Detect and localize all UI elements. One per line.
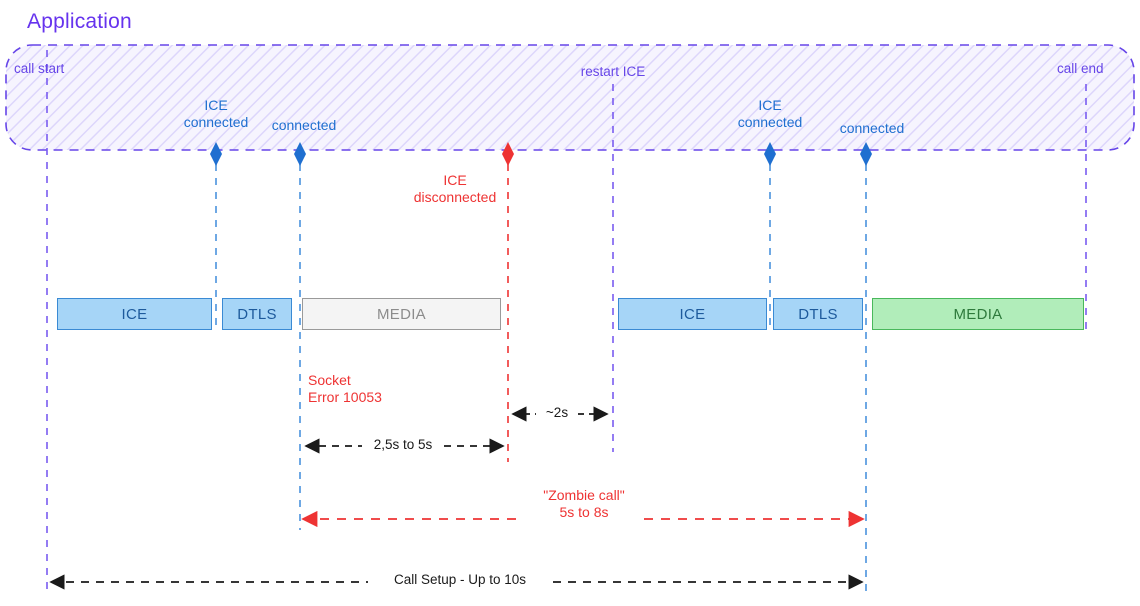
- phase-ice-1[interactable]: ICE: [57, 298, 212, 330]
- label-connected-1: connected: [272, 117, 337, 134]
- annotation-call-setup: Call Setup - Up to 10s: [394, 572, 526, 588]
- label-ice-connected-2-line1: ICE: [738, 97, 803, 114]
- annotation-zombie-call: "Zombie call" 5s to 8s: [543, 487, 625, 520]
- annotation-socket-error-line2: Error 10053: [308, 389, 382, 406]
- label-ice-disconnected-line2: disconnected: [414, 189, 497, 206]
- label-call-end: call end: [1057, 61, 1104, 77]
- annotation-span-2s: ~2s: [546, 405, 568, 421]
- annotation-zombie-title: "Zombie call": [543, 487, 625, 504]
- label-ice-connected-2: ICE connected: [738, 97, 803, 130]
- annotation-socket-error-line1: Socket: [308, 372, 382, 389]
- annotation-zombie-range: 5s to 8s: [543, 504, 625, 521]
- annotation-socket-error: Socket Error 10053: [308, 372, 382, 405]
- label-restart-ice: restart ICE: [581, 64, 646, 80]
- label-ice-disconnected: ICE disconnected: [414, 172, 497, 205]
- label-connected-2: connected: [840, 120, 905, 137]
- label-ice-connected-1-line2: connected: [184, 114, 249, 131]
- label-ice-connected-1-line1: ICE: [184, 97, 249, 114]
- label-connected-1-line2: connected: [272, 117, 337, 134]
- phase-media-1[interactable]: MEDIA: [302, 298, 501, 330]
- label-connected-2-line2: connected: [840, 120, 905, 137]
- page-title: Application: [27, 10, 132, 35]
- phase-ice-2[interactable]: ICE: [618, 298, 767, 330]
- application-lane: [6, 45, 1134, 150]
- label-call-start: call start: [14, 61, 64, 77]
- label-ice-connected-1: ICE connected: [184, 97, 249, 130]
- phase-dtls-1[interactable]: DTLS: [222, 298, 292, 330]
- phase-media-2[interactable]: MEDIA: [872, 298, 1084, 330]
- annotation-span-2-5s-to-5s: 2,5s to 5s: [374, 437, 433, 453]
- label-ice-connected-2-line2: connected: [738, 114, 803, 131]
- phase-dtls-2[interactable]: DTLS: [773, 298, 863, 330]
- diagram-canvas: Application call start restart ICE call …: [0, 0, 1140, 606]
- label-ice-disconnected-line1: ICE: [414, 172, 497, 189]
